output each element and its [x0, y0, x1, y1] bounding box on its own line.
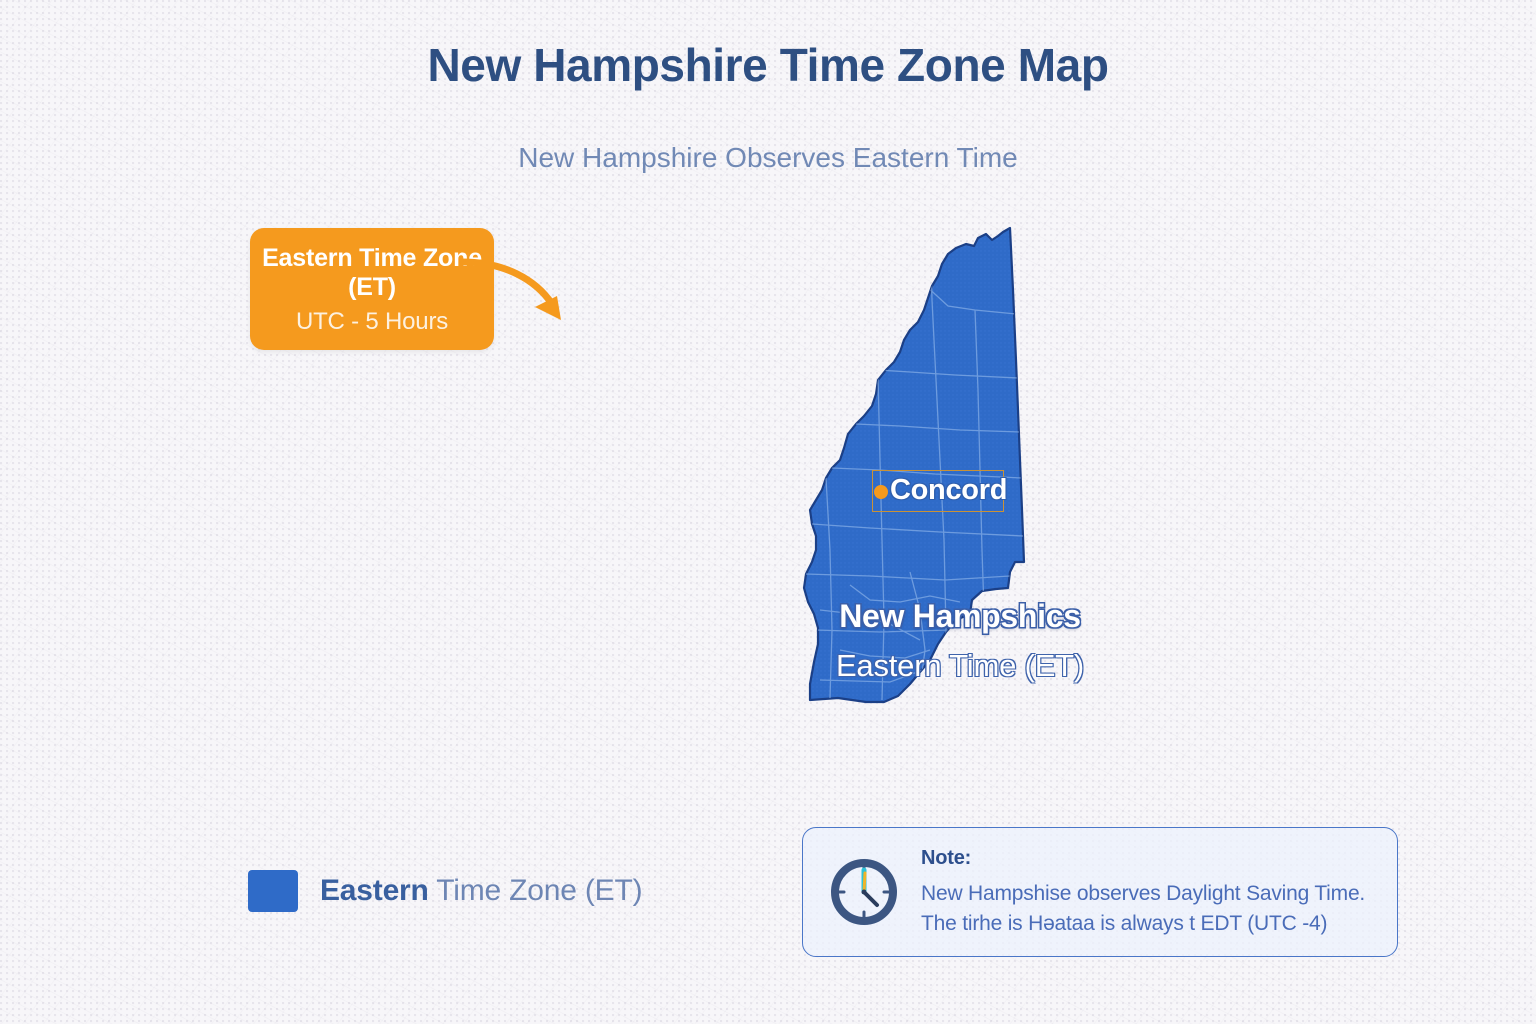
note-line-2: The tirhe is Hǝataa is always t EDT (UTC… — [921, 909, 1365, 939]
note-title: Note: — [921, 847, 1365, 870]
curved-arrow-icon — [460, 250, 590, 350]
note-line-1: New Hampshise observes Daylight Saving T… — [921, 879, 1365, 909]
legend-label: Eastern Time Zone (ET) — [320, 874, 642, 908]
callout-offset-label: UTC - 5 Hours — [260, 308, 484, 336]
legend: Eastern Time Zone (ET) — [248, 870, 642, 912]
legend-label-rest: Time Zone (ET) — [429, 874, 643, 907]
note-text: Note: New Hampshise observes Daylight Sa… — [921, 845, 1365, 940]
city-dot-icon — [874, 485, 888, 499]
state-name-label: New Hampshics — [760, 598, 1160, 635]
page-subtitle: New Hampshire Observes Eastern Time — [0, 142, 1536, 174]
legend-label-strong: Eastern — [320, 874, 429, 907]
state-timezone-label: Eastern Time (ET) — [760, 648, 1160, 684]
timezone-callout: Eastern Time Zone (ET) UTC - 5 Hours — [250, 228, 494, 350]
clock-icon — [825, 853, 903, 931]
note-box: Note: New Hampshise observes Daylight Sa… — [802, 827, 1398, 957]
legend-swatch-eastern — [248, 870, 298, 912]
callout-zone-label: Eastern Time Zone (ET) — [260, 244, 484, 302]
capital-label: Concord — [890, 474, 1007, 507]
page-title: New Hampshire Time Zone Map — [0, 38, 1536, 92]
